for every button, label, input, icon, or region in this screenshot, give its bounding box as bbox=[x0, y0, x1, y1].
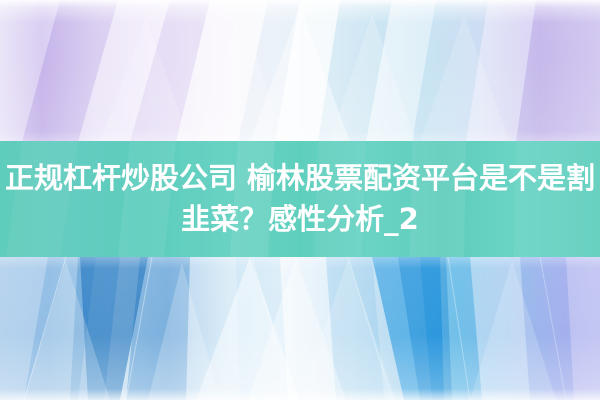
banner-title: 正规杠杆炒股公司 榆林股票配资平台是不是割韭菜？感性分析_2 bbox=[0, 158, 600, 240]
title-container: 正规杠杆炒股公司 榆林股票配资平台是不是割韭菜？感性分析_2 bbox=[0, 141, 600, 257]
top-highlight-sheen bbox=[0, 0, 600, 142]
banner-image: 正规杠杆炒股公司 榆林股票配资平台是不是割韭菜？感性分析_2 bbox=[0, 0, 600, 400]
bottom-highlight-sheen bbox=[0, 257, 600, 400]
